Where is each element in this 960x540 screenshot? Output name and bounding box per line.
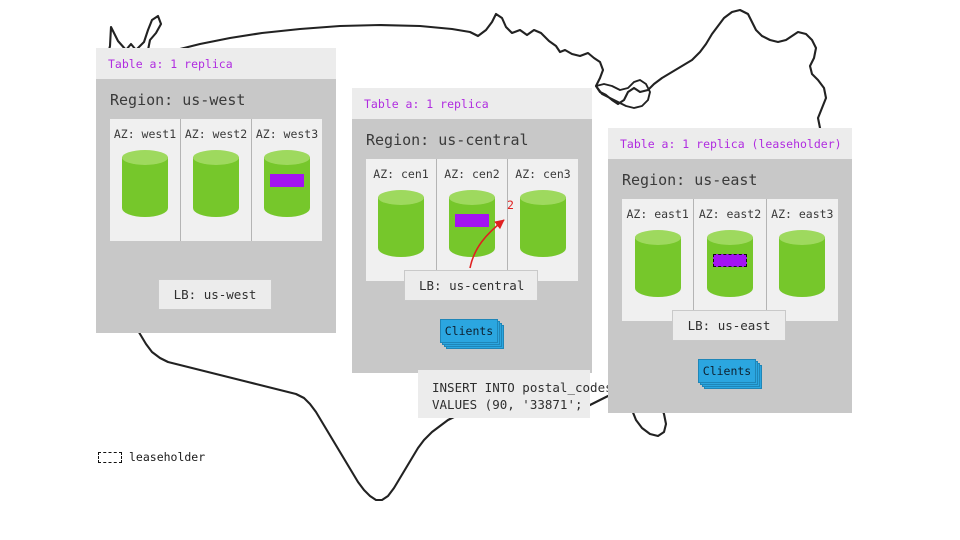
- replica-cylinder[interactable]: [264, 150, 310, 224]
- az-cell-cen1[interactable]: AZ: cen1: [366, 159, 437, 281]
- az-label: AZ: west3: [256, 127, 318, 141]
- replica-cylinder[interactable]: [520, 190, 566, 264]
- cylinder-body: [707, 237, 753, 297]
- panel-header: Table a: 1 replica: [352, 88, 592, 119]
- az-cell-east1[interactable]: AZ: east1: [622, 199, 694, 321]
- legend: leaseholder: [98, 450, 205, 464]
- clients-button-label[interactable]: Clients: [698, 359, 756, 383]
- az-label: AZ: west1: [114, 127, 176, 141]
- az-label: AZ: cen1: [373, 167, 428, 181]
- replica-cylinder[interactable]: [707, 230, 753, 304]
- cylinder-top: [122, 150, 168, 165]
- az-cell-west3[interactable]: AZ: west3: [252, 119, 322, 241]
- az-cell-east2[interactable]: AZ: east2: [694, 199, 766, 321]
- az-cell-east3[interactable]: AZ: east3: [767, 199, 838, 321]
- leaseholder-swatch-icon: [98, 452, 122, 463]
- sql-statement-box: INSERT INTO postal_codes VALUES (90, '33…: [418, 370, 590, 418]
- az-cell-cen3[interactable]: AZ: cen3: [508, 159, 578, 281]
- panel-header: Table a: 1 replica (leaseholder): [608, 128, 852, 159]
- clients-button-us-east[interactable]: Clients: [698, 359, 760, 387]
- cylinder-top: [378, 190, 424, 205]
- cylinder-body: [520, 197, 566, 257]
- replica-cylinder[interactable]: [193, 150, 239, 224]
- table-replica-label: Table a: 1 replica: [364, 97, 580, 111]
- cylinder-body: [193, 157, 239, 217]
- panel-header: Table a: 1 replica: [96, 48, 336, 79]
- arrow-count-label: 2: [507, 198, 514, 212]
- cylinder-body: [449, 197, 495, 257]
- az-label: AZ: east3: [771, 207, 833, 221]
- region-panel-us-central: Table a: 1 replica Region: us-central AZ…: [352, 88, 592, 373]
- load-balancer-box-us-west[interactable]: LB: us-west: [158, 279, 272, 310]
- replica-cylinder[interactable]: [635, 230, 681, 304]
- table-replica-label: Table a: 1 replica (leaseholder): [620, 137, 840, 151]
- az-container: AZ: west1 AZ: west2 AZ: west3: [110, 119, 322, 241]
- cylinder-top: [779, 230, 825, 245]
- load-balancer-box-us-east[interactable]: LB: us-east: [672, 310, 786, 341]
- az-label: AZ: west2: [185, 127, 247, 141]
- cylinder-body: [779, 237, 825, 297]
- panel-body: Region: us-east AZ: east1 AZ: east2: [608, 159, 852, 321]
- az-cell-west1[interactable]: AZ: west1: [110, 119, 181, 241]
- cylinder-body: [122, 157, 168, 217]
- cylinder-top: [635, 230, 681, 245]
- cylinder-body: [635, 237, 681, 297]
- panel-body: Region: us-west AZ: west1 AZ: west2: [96, 79, 336, 241]
- cylinder-body: [264, 157, 310, 217]
- cylinder-top: [449, 190, 495, 205]
- az-container: AZ: cen1 AZ: cen2 AZ: cen3: [366, 159, 578, 281]
- replica-marker-leaseholder: [713, 254, 747, 267]
- az-cell-west2[interactable]: AZ: west2: [181, 119, 252, 241]
- panel-body: Region: us-central AZ: cen1 AZ: cen2: [352, 119, 592, 281]
- table-replica-label: Table a: 1 replica: [108, 57, 324, 71]
- replica-cylinder[interactable]: [122, 150, 168, 224]
- az-label: AZ: east2: [699, 207, 761, 221]
- load-balancer-box-us-central[interactable]: LB: us-central: [404, 270, 538, 301]
- az-label: AZ: east1: [627, 207, 689, 221]
- region-panel-us-east: Table a: 1 replica (leaseholder) Region:…: [608, 128, 852, 413]
- replica-cylinder[interactable]: [449, 190, 495, 264]
- cylinder-top: [520, 190, 566, 205]
- az-label: AZ: cen2: [444, 167, 499, 181]
- clients-button-us-central[interactable]: Clients: [440, 319, 502, 347]
- legend-label: leaseholder: [129, 450, 205, 464]
- diagram-canvas: Table a: 1 replica Region: us-west AZ: w…: [0, 0, 960, 540]
- replica-cylinder[interactable]: [378, 190, 424, 264]
- replica-cylinder[interactable]: [779, 230, 825, 304]
- replica-marker: [455, 214, 489, 227]
- region-title: Region: us-east: [608, 159, 852, 199]
- clients-button-label[interactable]: Clients: [440, 319, 498, 343]
- region-panel-us-west: Table a: 1 replica Region: us-west AZ: w…: [96, 48, 336, 333]
- cylinder-top: [193, 150, 239, 165]
- replica-marker: [270, 174, 304, 187]
- az-container: AZ: east1 AZ: east2 AZ: east3: [622, 199, 838, 321]
- az-label: AZ: cen3: [515, 167, 570, 181]
- region-title: Region: us-west: [96, 79, 336, 119]
- cylinder-body: [378, 197, 424, 257]
- region-title: Region: us-central: [352, 119, 592, 159]
- cylinder-top: [707, 230, 753, 245]
- cylinder-top: [264, 150, 310, 165]
- az-cell-cen2[interactable]: AZ: cen2: [437, 159, 508, 281]
